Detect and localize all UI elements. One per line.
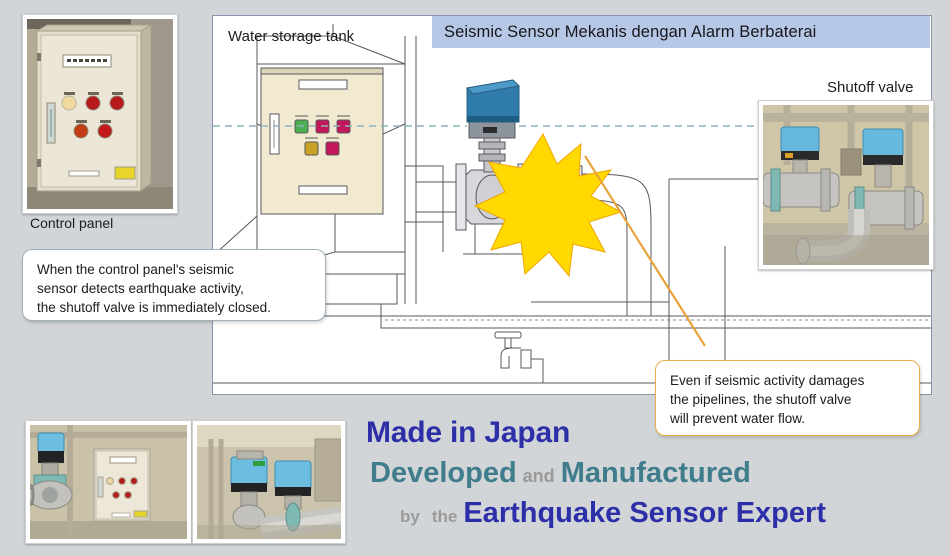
tagline-the: the: [426, 507, 464, 526]
tagline-expert: Earthquake Sensor Expert: [463, 497, 826, 529]
callout-left-line-3: the shutoff valve is immediately closed.: [37, 298, 315, 317]
valve-and-panel-photo-art: [30, 425, 187, 539]
tagline-and: and: [517, 466, 561, 486]
tagline-block: Made in Japan DevelopedandManufactured b…: [366, 418, 926, 528]
callout-left-text: When the control panel's seismic sensor …: [37, 260, 315, 317]
callout-left-line-1: When the control panel's seismic: [37, 260, 315, 279]
callout-right-line-2: the pipelines, the shutoff valve: [670, 390, 909, 409]
tagline-line-1: Made in Japan: [366, 418, 926, 448]
faucet-icon: [495, 332, 543, 383]
valve-and-panel-photo: [25, 420, 192, 544]
control-panel-photo-art: [27, 19, 173, 209]
shutoff-valve-photo: [758, 100, 934, 270]
tagline-by: by: [394, 507, 426, 526]
diagram-control-panel: [261, 68, 383, 214]
label-water-storage-tank: Water storage tank: [228, 28, 354, 45]
tagline-line-2: DevelopedandManufactured: [366, 459, 926, 488]
control-panel-photo: [22, 14, 178, 214]
callout-control-panel: When the control panel's seismic sensor …: [22, 249, 326, 321]
dual-valves-photo-art: [197, 425, 341, 539]
title-banner: Seismic Sensor Mekanis dengan Alarm Berb…: [432, 16, 930, 48]
dual-valves-photo: [192, 420, 346, 544]
tagline-line-3: bytheEarthquake Sensor Expert: [366, 499, 926, 528]
tagline-manufactured: Manufactured: [561, 457, 751, 489]
callout-left-line-2: sensor detects earthquake activity,: [37, 279, 315, 298]
poster-root: Seismic Sensor Mekanis dengan Alarm Berb…: [0, 0, 950, 556]
label-shutoff-valve: Shutoff valve: [827, 79, 913, 96]
tagline-developed: Developed: [370, 457, 517, 489]
shutoff-valve-photo-art: [763, 105, 929, 265]
callout-right-line-1: Even if seismic activity damages: [670, 371, 909, 390]
label-control-panel: Control panel: [30, 215, 113, 231]
title-text: Seismic Sensor Mekanis dengan Alarm Berb…: [432, 23, 816, 42]
